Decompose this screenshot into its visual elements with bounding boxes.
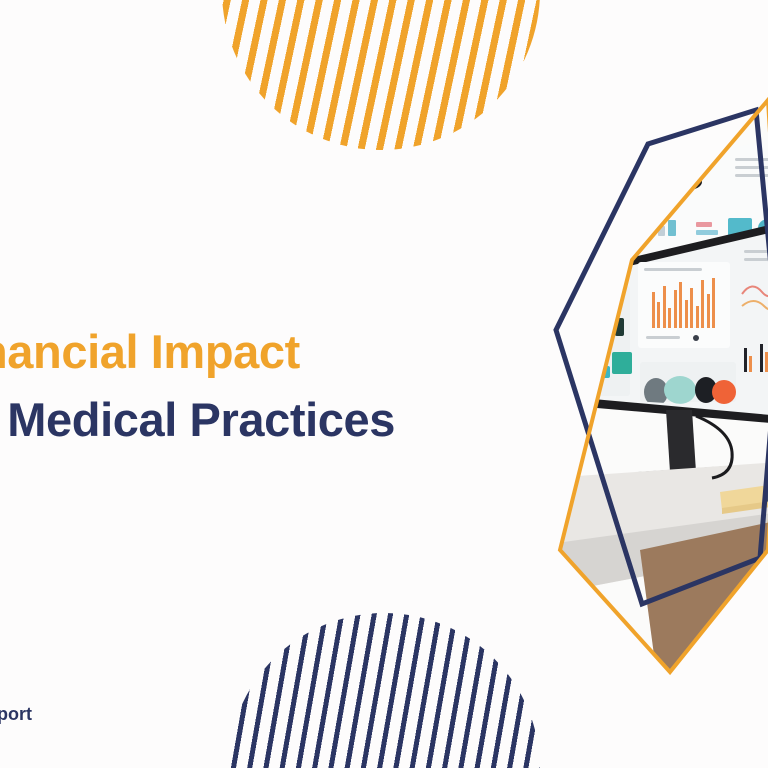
navy-striped-circle — [228, 613, 540, 768]
page-title-line-2: on Medical Practices — [0, 386, 558, 454]
page-title-line-1: Financial Impact — [0, 318, 558, 386]
navy-stripe-pattern — [228, 613, 540, 768]
page-title: Financial Impact on Medical Practices — [0, 318, 558, 453]
orange-stripe-pattern — [222, 0, 540, 150]
footer-caption: Report — [0, 704, 32, 725]
slide-canvas: Financial Impact on Medical Practices Re… — [0, 0, 768, 768]
orange-striped-circle — [222, 0, 540, 150]
